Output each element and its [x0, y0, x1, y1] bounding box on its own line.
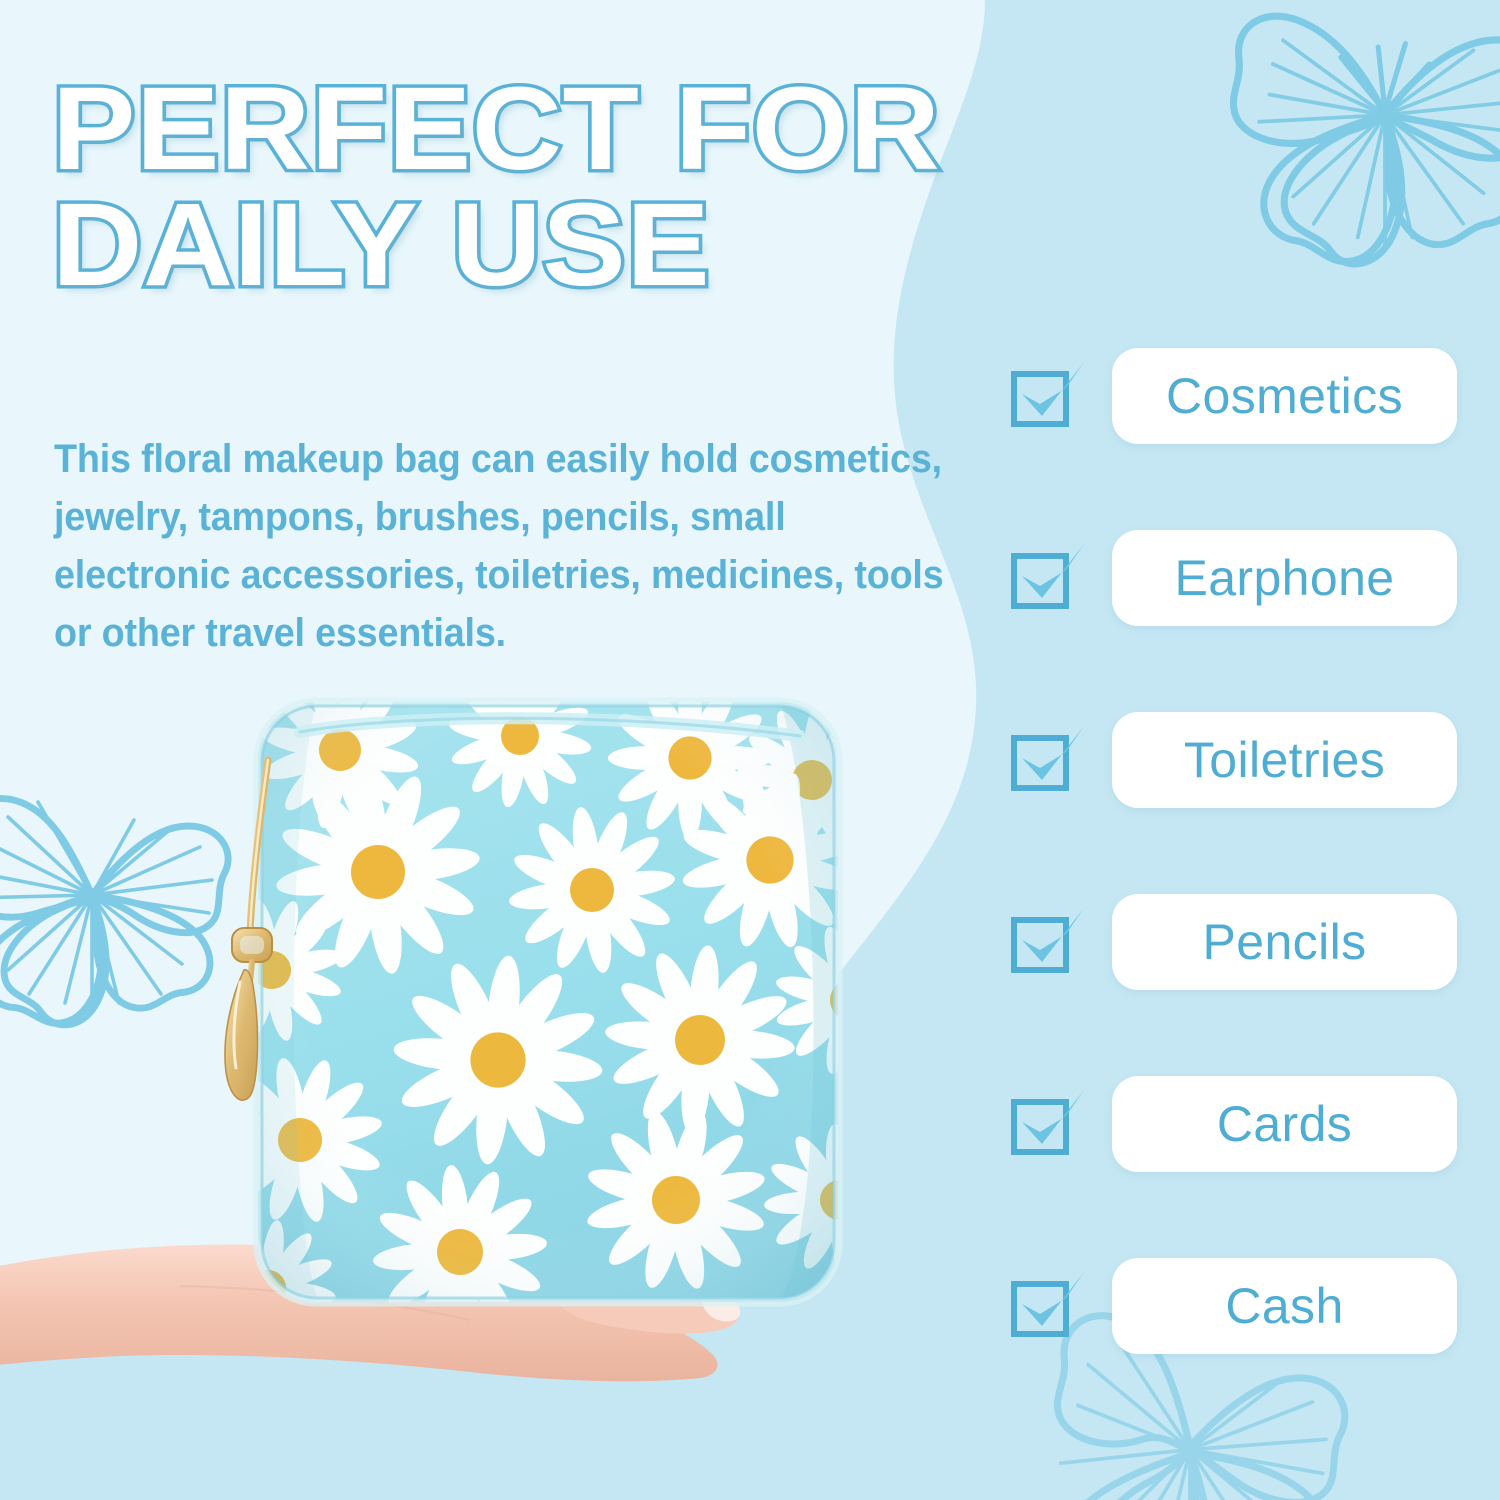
checklist-label: Toiletries — [1184, 731, 1385, 789]
checklist-pill[interactable]: Toiletries — [1112, 712, 1457, 808]
checklist-item-cosmetics[interactable]: Cosmetics — [1000, 348, 1470, 530]
product-image-daisy-pouch — [0, 640, 900, 1500]
makeup-pouch — [181, 643, 900, 1365]
checklist-pill[interactable]: Pencils — [1112, 894, 1457, 990]
checkmark-box-icon[interactable] — [1010, 906, 1088, 976]
checklist-item-toiletries[interactable]: Toiletries — [1000, 712, 1470, 894]
checkmark-box-icon[interactable] — [1010, 1270, 1088, 1340]
checklist-pill[interactable]: Cash — [1112, 1258, 1457, 1354]
checklist-pill[interactable]: Earphone — [1112, 530, 1457, 626]
checklist-item-earphone[interactable]: Earphone — [1000, 530, 1470, 712]
checklist-label: Earphone — [1174, 549, 1394, 607]
headline-line-1: PERFECT FOR — [52, 72, 1112, 188]
description-text: This floral makeup bag can easily hold c… — [54, 430, 956, 662]
checklist-label: Cosmetics — [1166, 367, 1403, 425]
checklist-label: Cash — [1225, 1277, 1343, 1335]
checklist-pill[interactable]: Cosmetics — [1112, 348, 1457, 444]
product-feature-banner: PERFECT FOR DAILY USE This floral makeup… — [0, 0, 1500, 1500]
checklist-item-pencils[interactable]: Pencils — [1000, 894, 1470, 1076]
checklist-label: Pencils — [1203, 913, 1367, 971]
hibiscus-outline-top-right-icon — [1215, 0, 1500, 285]
checkmark-box-icon[interactable] — [1010, 542, 1088, 612]
checklist-item-cash[interactable]: Cash — [1000, 1258, 1470, 1440]
checkmark-box-icon[interactable] — [1010, 1088, 1088, 1158]
checklist-pill[interactable]: Cards — [1112, 1076, 1457, 1172]
checkmark-box-icon[interactable] — [1010, 360, 1088, 430]
checklist-label: Cards — [1217, 1095, 1352, 1153]
feature-checklist: Cosmetics Earphone Toiletr — [1000, 348, 1470, 1440]
headline-line-2: DAILY USE — [52, 188, 1112, 304]
page-title: PERFECT FOR DAILY USE — [52, 72, 1112, 303]
checklist-item-cards[interactable]: Cards — [1000, 1076, 1470, 1258]
checkmark-box-icon[interactable] — [1010, 724, 1088, 794]
